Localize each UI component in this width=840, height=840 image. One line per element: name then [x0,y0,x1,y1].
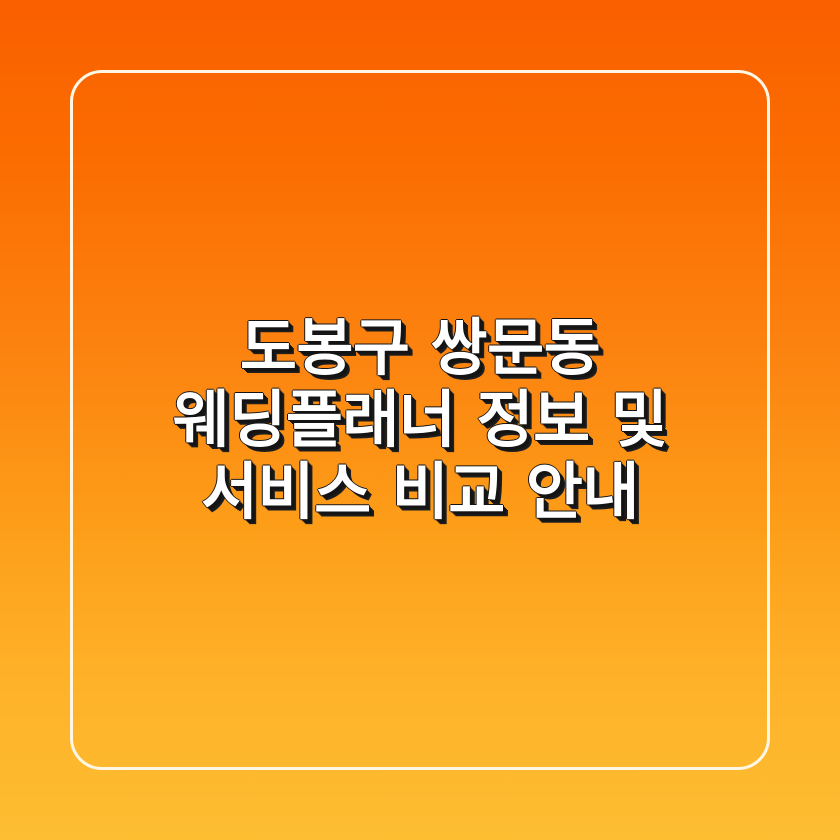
headline-line-2: 웨딩플래너 정보 및 [78,384,762,456]
headline-block: 도봉구 쌍문동 웨딩플래너 정보 및 서비스 비교 안내 [0,0,840,840]
poster-canvas: 도봉구 쌍문동 웨딩플래너 정보 및 서비스 비교 안내 [0,0,840,840]
headline-line-1: 도봉구 쌍문동 [78,312,762,384]
headline-line-3: 서비스 비교 안내 [78,456,762,528]
